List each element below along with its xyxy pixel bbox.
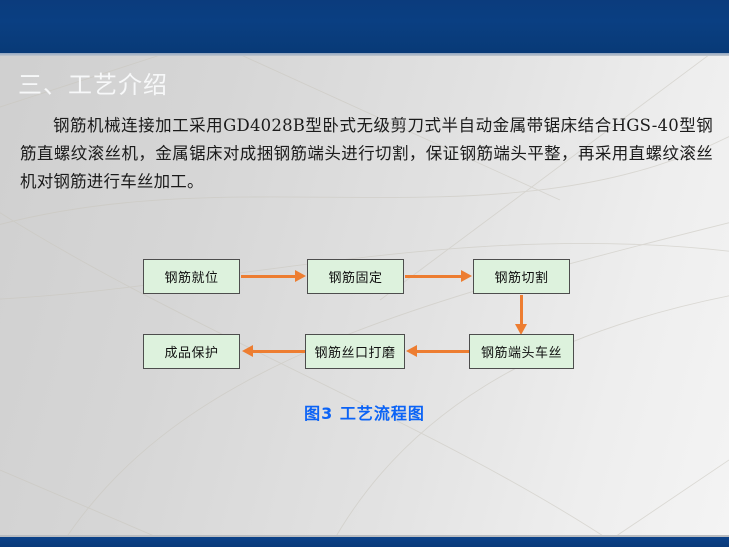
flow-arrow-head-1 — [295, 270, 306, 282]
slide-canvas: 三、工艺介绍 钢筋机械连接加工采用GD4028B型卧式无级剪刀式半自动金属带锯床… — [0, 0, 729, 547]
flow-node-product-protection[interactable]: 成品保护 — [143, 334, 240, 369]
flow-node-end-threading[interactable]: 钢筋端头车丝 — [469, 334, 574, 369]
flow-node-steel-fixing[interactable]: 钢筋固定 — [307, 259, 404, 294]
flow-arrow-head-4 — [406, 345, 417, 357]
flow-arrow-line-5 — [253, 350, 305, 353]
flow-node-steel-positioning[interactable]: 钢筋就位 — [143, 259, 240, 294]
figure-caption: 图3 工艺流程图 — [0, 400, 729, 424]
flow-arrow-line-1 — [241, 275, 295, 278]
flow-arrow-head-5 — [242, 345, 253, 357]
process-flowchart: 钢筋就位 钢筋固定 钢筋切割 钢筋端头车丝 钢筋丝口打磨 成品保护 — [0, 0, 729, 547]
flow-arrow-line-2 — [405, 275, 461, 278]
flow-node-thread-grinding[interactable]: 钢筋丝口打磨 — [305, 334, 405, 369]
flow-arrow-head-2 — [461, 270, 472, 282]
bottom-navy-band — [0, 537, 729, 547]
flow-arrow-line-4 — [417, 350, 469, 353]
flow-arrow-line-3 — [520, 295, 523, 325]
flow-node-steel-cutting[interactable]: 钢筋切割 — [473, 259, 570, 294]
